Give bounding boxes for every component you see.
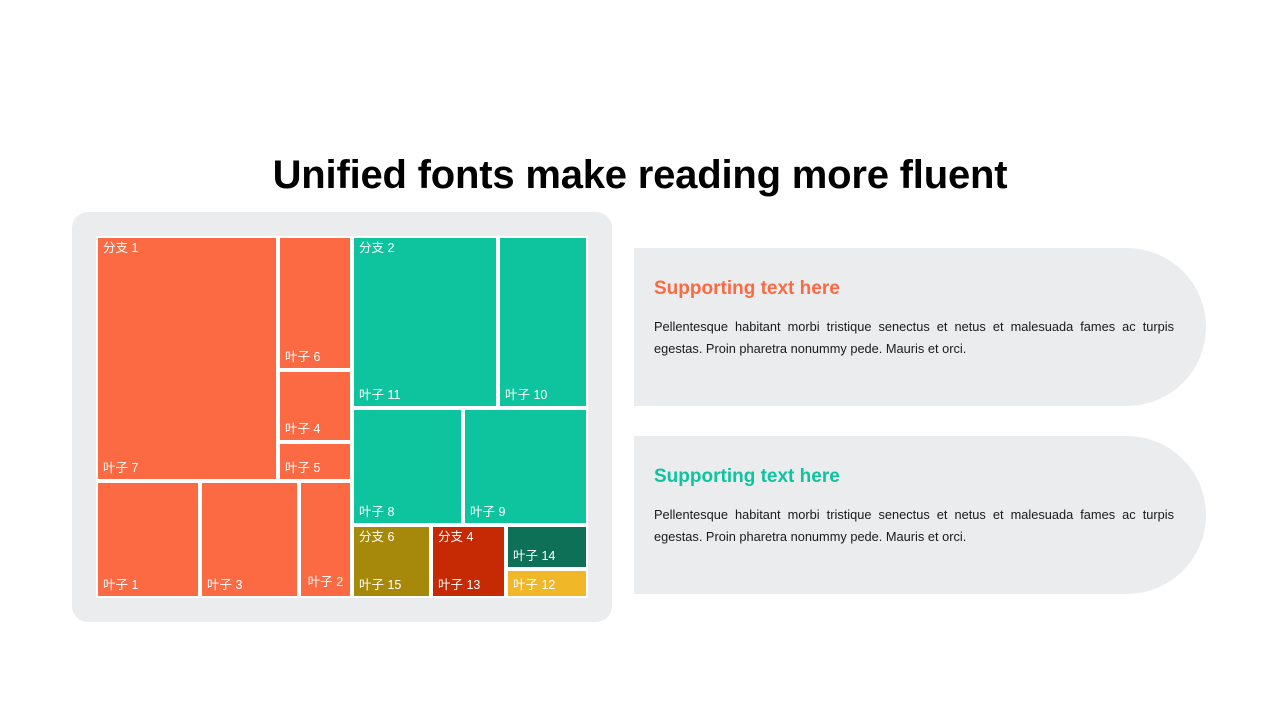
treemap-label-leaf-14: 叶子 14 [513, 549, 555, 564]
treemap-chart: 分支 1叶子 7叶子 6叶子 4叶子 5叶子 1叶子 3叶子 2分支 2叶子 1… [96, 236, 588, 598]
treemap-label-leaf-2: 叶子 2 [306, 575, 345, 590]
treemap-cell-leaf-7[interactable]: 分支 1叶子 7 [96, 236, 278, 481]
treemap-cell-leaf-15[interactable]: 分支 6叶子 15 [352, 525, 431, 598]
supporting-text-heading-1: Supporting text here [654, 278, 1172, 300]
treemap-label-leaf-10: 叶子 10 [505, 388, 547, 403]
treemap-label-leaf-12: 叶子 12 [513, 578, 555, 593]
treemap-label-leaf-11: 叶子 11 [359, 388, 400, 403]
treemap-cell-leaf-1[interactable]: 叶子 1 [96, 481, 200, 598]
supporting-text-body-1: Pellentesque habitant morbi tristique se… [654, 316, 1174, 360]
treemap-cell-leaf-10[interactable]: 叶子 10 [498, 236, 588, 408]
treemap-label-leaf-15: 叶子 15 [359, 578, 401, 593]
treemap-label-branch-6: 分支 6 [359, 530, 394, 545]
treemap-label-leaf-1: 叶子 1 [103, 578, 138, 593]
treemap-cell-leaf-6[interactable]: 叶子 6 [278, 236, 352, 370]
treemap-label-leaf-5: 叶子 5 [285, 461, 320, 476]
treemap-label-leaf-6: 叶子 6 [285, 350, 320, 365]
treemap-label-leaf-3: 叶子 3 [207, 578, 242, 593]
treemap-cell-leaf-12[interactable]: 叶子 12 [506, 569, 588, 598]
treemap-cell-leaf-11[interactable]: 分支 2叶子 11 [352, 236, 498, 408]
treemap-label-leaf-9: 叶子 9 [470, 505, 505, 520]
treemap-cell-leaf-9[interactable]: 叶子 9 [463, 408, 588, 525]
treemap-cell-leaf-5[interactable]: 叶子 5 [278, 442, 352, 481]
treemap-card: 分支 1叶子 7叶子 6叶子 4叶子 5叶子 1叶子 3叶子 2分支 2叶子 1… [72, 212, 612, 622]
treemap-cell-leaf-4[interactable]: 叶子 4 [278, 370, 352, 442]
supporting-text-card-1: Supporting text here Pellentesque habita… [634, 248, 1206, 406]
treemap-cell-leaf-14[interactable]: 叶子 14 [506, 525, 588, 569]
treemap-label-leaf-7: 叶子 7 [103, 461, 138, 476]
supporting-text-card-2: Supporting text here Pellentesque habita… [634, 436, 1206, 594]
treemap-label-branch-1: 分支 1 [103, 241, 138, 256]
treemap-cell-leaf-3[interactable]: 叶子 3 [200, 481, 299, 598]
treemap-cell-leaf-8[interactable]: 叶子 8 [352, 408, 463, 525]
treemap-label-branch-4: 分支 4 [438, 530, 473, 545]
treemap-cell-leaf-13[interactable]: 分支 4叶子 13 [431, 525, 506, 598]
supporting-text-body-2: Pellentesque habitant morbi tristique se… [654, 504, 1174, 548]
supporting-text-heading-2: Supporting text here [654, 466, 1172, 488]
treemap-cell-leaf-2[interactable]: 叶子 2 [299, 481, 352, 598]
treemap-label-branch-2: 分支 2 [359, 241, 394, 256]
treemap-label-leaf-13: 叶子 13 [438, 578, 480, 593]
page-title: Unified fonts make reading more fluent [0, 151, 1280, 199]
treemap-label-leaf-8: 叶子 8 [359, 505, 394, 520]
treemap-label-leaf-4: 叶子 4 [285, 422, 320, 437]
